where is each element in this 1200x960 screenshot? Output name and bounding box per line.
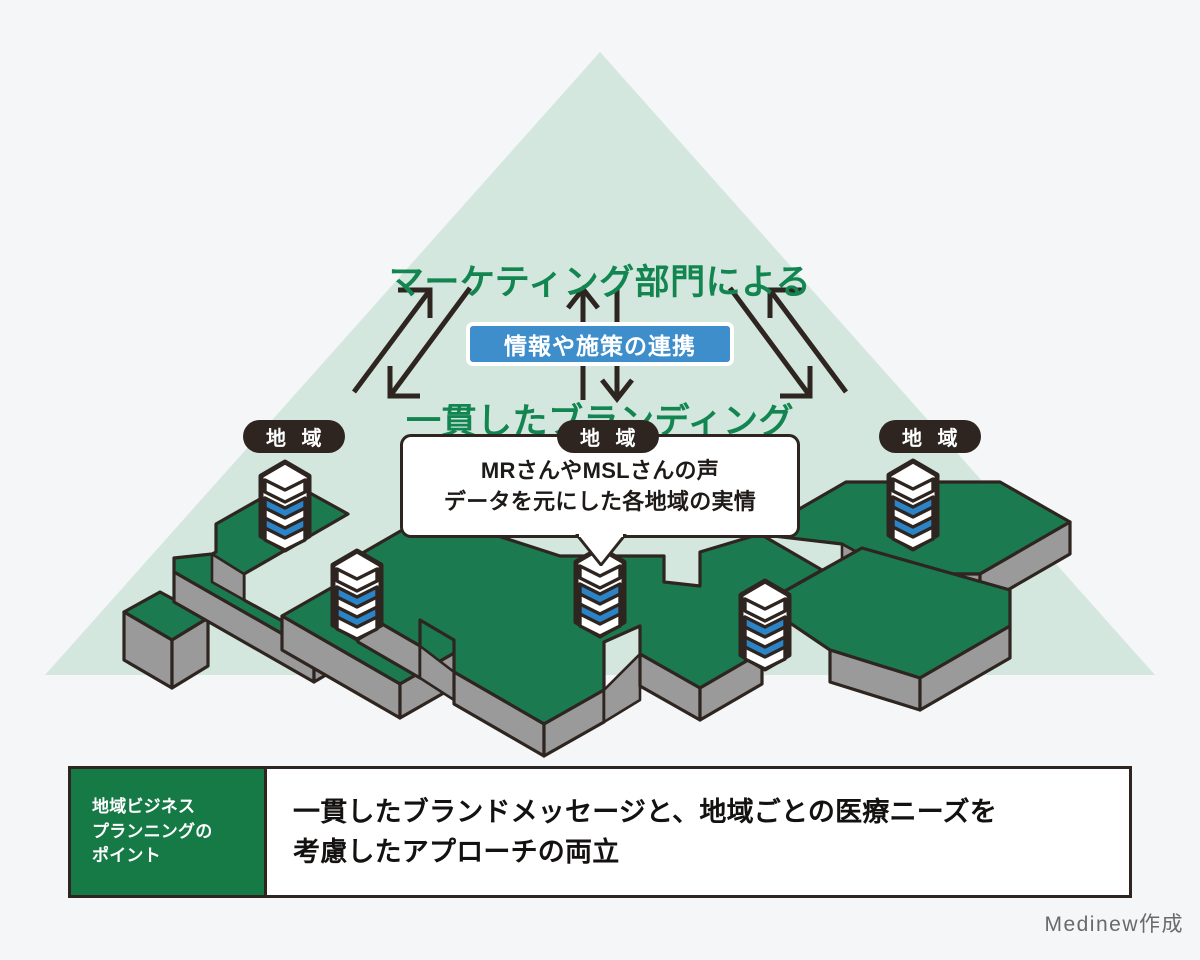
summary-label: 地域ビジネス プランニングの ポイント bbox=[71, 769, 267, 895]
region-pill-left-label: 地 域 bbox=[261, 422, 327, 451]
summary-body: 一貫したブランドメッセージと、地域ごとの医療ニーズを 考慮したアプローチの両立 bbox=[267, 769, 1129, 895]
region-pill-right-label: 地 域 bbox=[897, 422, 963, 451]
infographic-canvas: マーケティング部門による 一貫したブランディング 情報や施策の連携 地 域 地 … bbox=[0, 0, 1200, 960]
summary-body-line-1: 一貫したブランドメッセージと、地域ごとの医療ニーズを bbox=[293, 792, 1115, 833]
link-badge-label: 情報や施策の連携 bbox=[504, 327, 696, 361]
region-pill-left: 地 域 bbox=[243, 420, 345, 453]
summary-body-line-2: 考慮したアプローチの両立 bbox=[293, 832, 1115, 873]
insight-callout-line-1: MRさんやMSLさんの声 bbox=[481, 455, 719, 486]
main-title-line-1: マーケティング部門による bbox=[0, 260, 1200, 306]
callout-tail bbox=[575, 534, 627, 566]
summary-label-line-1: 地域ビジネス bbox=[92, 795, 264, 820]
credit-text: Medinew作成 bbox=[1044, 908, 1184, 938]
summary-label-line-2: プランニングの bbox=[92, 820, 264, 845]
summary-box: 地域ビジネス プランニングの ポイント 一貫したブランドメッセージと、地域ごとの… bbox=[68, 766, 1132, 898]
insight-callout-line-2: データを元にした各地域の実情 bbox=[444, 486, 756, 517]
link-badge: 情報や施策の連携 bbox=[466, 322, 734, 366]
summary-label-line-3: ポイント bbox=[92, 844, 264, 869]
region-pill-center-label: 地 域 bbox=[575, 422, 641, 451]
region-pill-right: 地 域 bbox=[879, 420, 981, 453]
region-pill-center: 地 域 bbox=[557, 420, 659, 453]
